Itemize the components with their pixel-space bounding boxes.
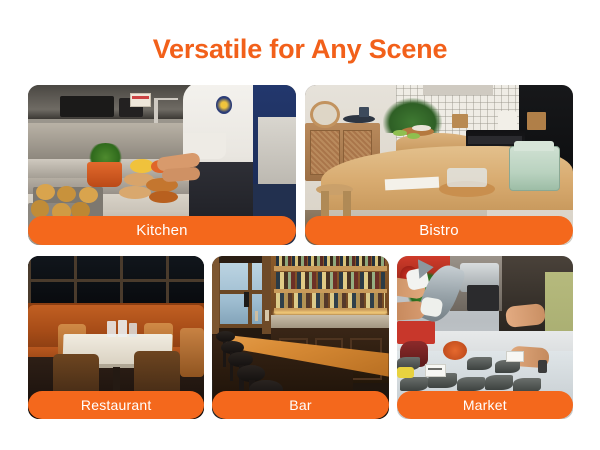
scene-label-kitchen: Kitchen	[28, 216, 296, 245]
scene-card-market[interactable]: Market	[397, 256, 573, 419]
gallery-row-bottom: Restaurant	[28, 256, 573, 419]
scene-label-text: Restaurant	[81, 397, 151, 413]
gallery-row-top: Kitchen	[28, 85, 573, 245]
page-title: Versatile for Any Scene	[0, 34, 600, 65]
scene-card-restaurant[interactable]: Restaurant	[28, 256, 204, 419]
scene-label-bistro: Bistro	[305, 216, 573, 245]
scene-label-text: Bar	[289, 397, 311, 413]
scene-card-bistro[interactable]: Bistro	[305, 85, 573, 245]
scene-card-kitchen[interactable]: Kitchen	[28, 85, 296, 245]
scene-label-bar: Bar	[212, 391, 388, 419]
scene-label-text: Kitchen	[136, 222, 187, 239]
scene-label-text: Market	[463, 397, 507, 413]
scene-label-restaurant: Restaurant	[28, 391, 204, 419]
scene-label-text: Bistro	[419, 222, 459, 239]
scene-card-bar[interactable]: Bar	[212, 256, 388, 419]
scene-gallery-page: Versatile for Any Scene	[0, 0, 600, 450]
scene-label-market: Market	[397, 391, 573, 419]
